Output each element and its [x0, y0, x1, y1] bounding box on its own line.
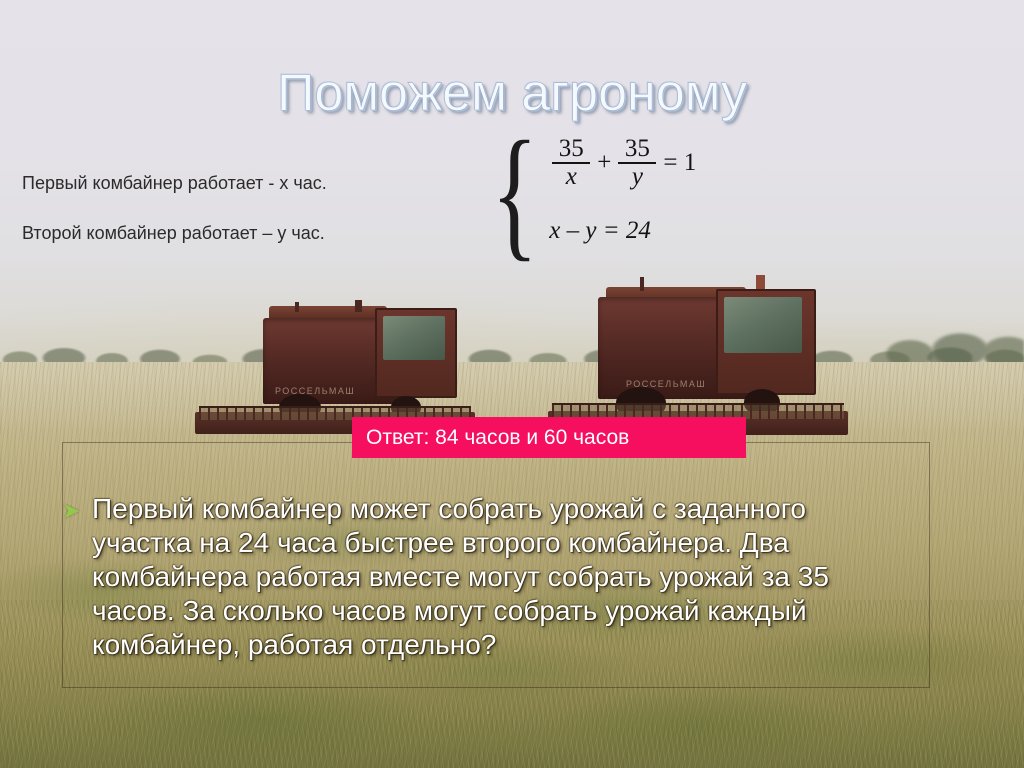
answer-banner: Ответ: 84 часов и 60 часов: [352, 417, 746, 458]
combine-left-windshield: [383, 316, 445, 360]
fraction-2-numerator: 35: [621, 136, 654, 162]
combine-left-antenna: [295, 302, 299, 312]
fraction-1-denominator: x: [552, 162, 590, 190]
combine-left-exhaust: [355, 300, 362, 312]
equation-system: { 35 x + 35 y = 1 x – y = 24: [482, 134, 700, 245]
answer-banner-text: Ответ: 84 часов и 60 часов: [366, 427, 629, 448]
equation-row-2: x – y = 24: [549, 217, 700, 245]
fraction-2-denominator: y: [618, 162, 656, 190]
statement-line-2: Второй комбайнер работает – у час.: [22, 222, 325, 244]
slide-canvas: РОССЕЛЬМАШ РОССЕЛЬМАШ Поможем агроному П…: [0, 0, 1024, 768]
combine-right-brand-label: РОССЕЛЬМАШ: [626, 379, 706, 389]
combine-right-antenna: [640, 277, 644, 291]
combine-left-brand-label: РОССЕЛЬМАШ: [275, 386, 355, 396]
statement-line-1: Первый комбайнер работает - х час.: [22, 172, 327, 194]
fraction-35-over-x: 35 x: [552, 136, 590, 191]
equation-1-right-side: = 1: [663, 149, 696, 177]
equation-row-1: 35 x + 35 y = 1: [549, 136, 700, 191]
fraction-35-over-y: 35 y: [618, 136, 656, 191]
equation-plus-operator: +: [597, 149, 611, 177]
body-bullet-block: ➤ Первый комбайнер может собрать урожай …: [62, 492, 882, 662]
combine-right-windshield: [724, 297, 802, 353]
body-paragraph: Первый комбайнер может собрать урожай с …: [92, 492, 882, 662]
fraction-1-numerator: 35: [555, 136, 588, 162]
bullet-arrow-icon: ➤: [62, 500, 92, 522]
equation-rows: 35 x + 35 y = 1 x – y = 24: [549, 136, 700, 245]
combine-harvester-right: РОССЕЛЬМАШ: [588, 275, 863, 440]
